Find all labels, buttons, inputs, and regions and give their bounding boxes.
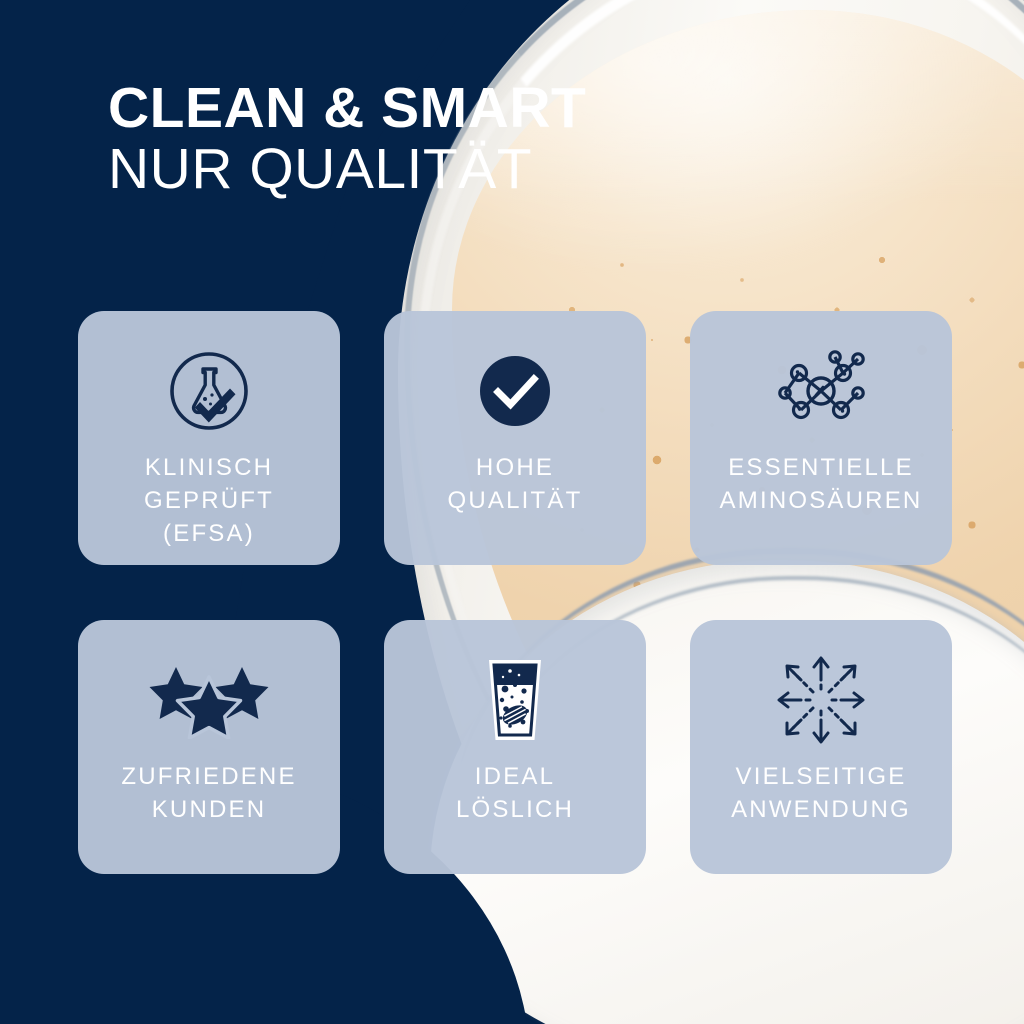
feature-card-label: ESSENTIELLE AMINOSÄUREN <box>710 451 933 517</box>
headline-line-1: CLEAN & SMART <box>108 78 748 138</box>
feature-card-klinisch-geprueft[interactable]: KLINISCH GEPRÜFT (EFSA) <box>78 311 340 565</box>
three-stars-icon <box>145 654 273 746</box>
feature-card-label: KLINISCH GEPRÜFT (EFSA) <box>134 451 284 550</box>
glass-tablet-icon <box>479 654 551 746</box>
headline-line-2: NUR QUALITÄT <box>108 138 748 202</box>
feature-card-label: HOHE QUALITÄT <box>438 451 593 517</box>
flask-check-icon <box>167 345 251 437</box>
feature-card-vielseitige-anwendung[interactable]: VIELSEITIGE ANWENDUNG <box>690 620 952 874</box>
infographic-canvas: CLEAN & SMART NUR QUALITÄT KLINISCH GEPR… <box>0 0 1024 1024</box>
feature-card-ideal-loeslich[interactable]: IDEAL LÖSLICH <box>384 620 646 874</box>
feature-card-essentielle-aminosaeuren[interactable]: ESSENTIELLE AMINOSÄUREN <box>690 311 952 565</box>
check-circle-icon <box>473 345 557 437</box>
feature-card-label: ZUFRIEDENE KUNDEN <box>111 760 306 826</box>
feature-card-label: IDEAL LÖSLICH <box>446 760 584 826</box>
headline-block: CLEAN & SMART NUR QUALITÄT <box>108 78 748 202</box>
feature-card-label: VIELSEITIGE ANWENDUNG <box>721 760 921 826</box>
radiating-arrows-icon <box>774 654 868 746</box>
feature-card-grid: KLINISCH GEPRÜFT (EFSA) HOHE QUALITÄT <box>78 311 952 874</box>
molecule-icon <box>773 345 869 437</box>
feature-card-zufriedene-kunden[interactable]: ZUFRIEDENE KUNDEN <box>78 620 340 874</box>
feature-card-hohe-qualitaet[interactable]: HOHE QUALITÄT <box>384 311 646 565</box>
